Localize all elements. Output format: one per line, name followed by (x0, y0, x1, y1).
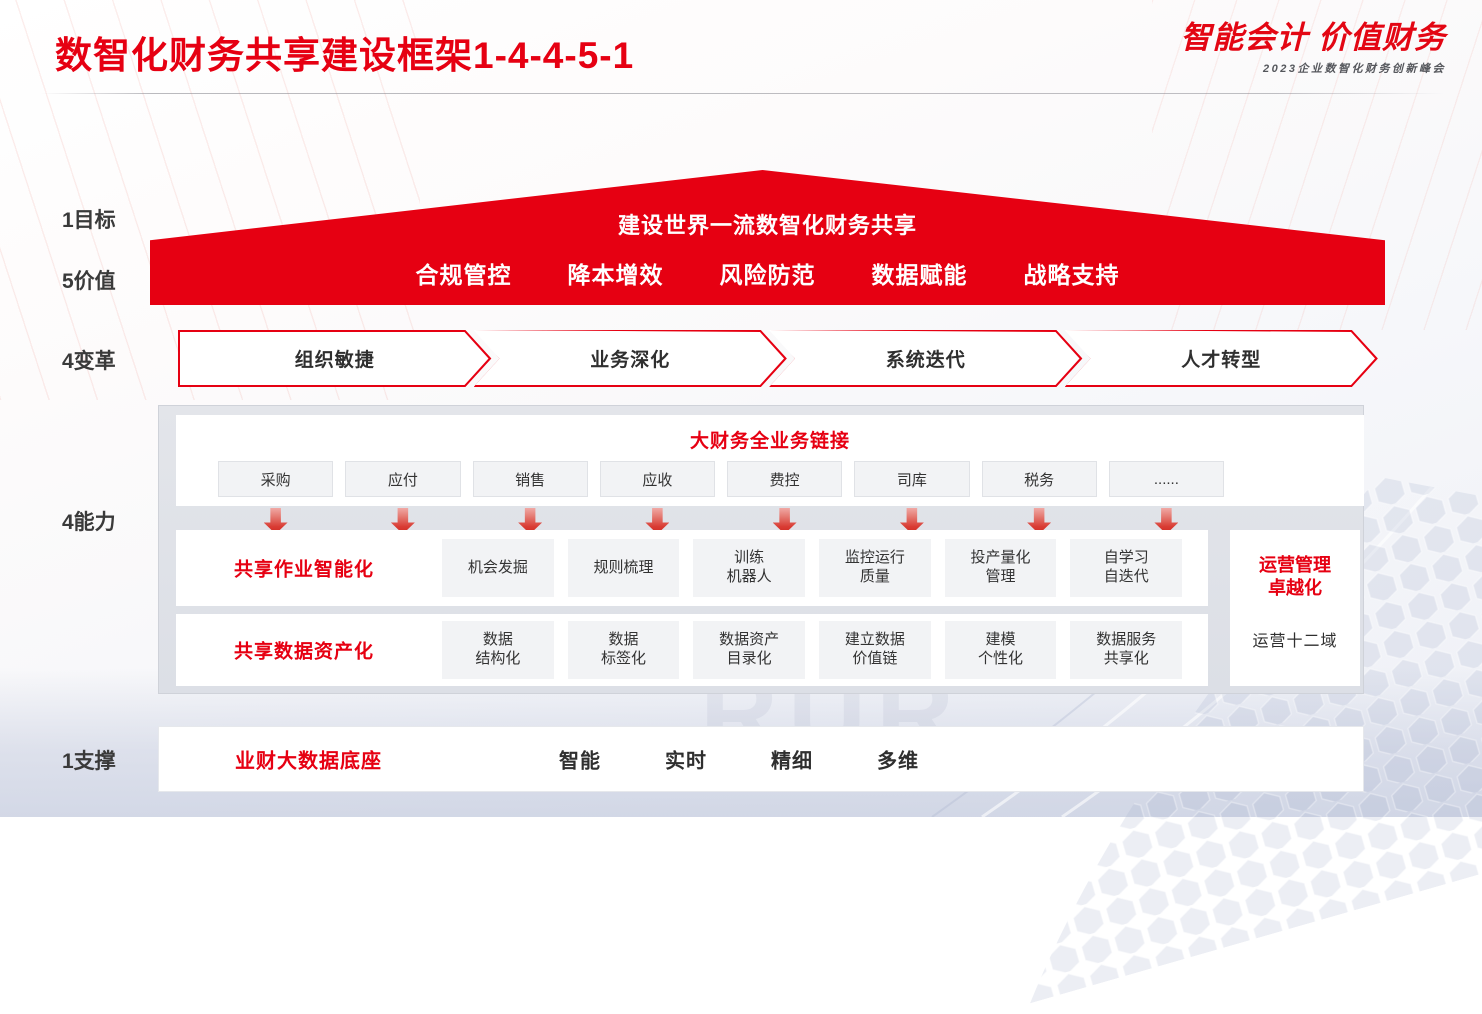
roof-goal-text: 建设世界一流数智化财务共享 (150, 208, 1385, 240)
operations-excellence-panel: 运营管理 卓越化 运营十二域 (1230, 530, 1360, 686)
operations-title-line1: 运营管理 (1259, 555, 1331, 575)
capability-card-line: 管理 (986, 568, 1016, 587)
value-item: 数据赋能 (872, 256, 968, 290)
capability-row-title: 共享数据资产化 (176, 637, 432, 664)
row-label-capability: 4能力 (62, 506, 116, 536)
capability-card[interactable]: 监控运行 质量 (819, 539, 931, 597)
header-divider (40, 93, 1444, 94)
support-foundation-title: 业财大数据底座 (235, 745, 382, 774)
capability-card[interactable]: 数据 结构化 (442, 621, 554, 679)
capability-card[interactable]: 建模 个性化 (945, 621, 1057, 679)
capability-card-line: 数据 (609, 631, 639, 650)
capability-card-line: 质量 (860, 568, 890, 587)
support-attribute: 智能 (559, 745, 601, 774)
capability-card[interactable]: 数据资产 目录化 (693, 621, 805, 679)
capability-card-line: 机会发掘 (468, 559, 528, 578)
value-list: 合规管控 降本增效 风险防范 数据赋能 战略支持 (150, 256, 1385, 290)
business-chain-tag[interactable]: 税务 (982, 461, 1097, 497)
business-chain-tag[interactable]: ...... (1109, 461, 1224, 497)
support-foundation-bar: 业财大数据底座 智能 实时 精细 多维 (158, 726, 1364, 792)
capability-card-line: 数据服务 (1096, 631, 1156, 650)
roof-banner: 建设世界一流数智化财务共享 合规管控 降本增效 风险防范 数据赋能 战略支持 (150, 170, 1385, 305)
brand-lockup: 智能会计 价值财务 2023企业数智化财务创新峰会 (1180, 22, 1446, 76)
capability-card-line: 数据 (483, 631, 513, 650)
capability-card-line: 目录化 (727, 650, 772, 669)
chevron-step-label: 业务深化 (590, 345, 670, 372)
capability-card-line: 监控运行 (845, 549, 905, 568)
business-chain-tag[interactable]: 费控 (727, 461, 842, 497)
operations-title-line2: 卓越化 (1268, 578, 1322, 598)
capability-card-line: 规则梳理 (594, 559, 654, 578)
capability-card[interactable]: 训练 机器人 (693, 539, 805, 597)
capability-card[interactable]: 数据服务 共享化 (1070, 621, 1182, 679)
capability-card[interactable]: 建立数据 价值链 (819, 621, 931, 679)
capability-row-data-assets: 共享数据资产化 数据 结构化 数据 标签化 数据资产 目录化 建立数据 价值链 … (176, 614, 1208, 686)
page-title: 数智化财务共享建设框架1-4-4-5-1 (55, 25, 634, 79)
capability-card[interactable]: 自学习 自迭代 (1070, 539, 1182, 597)
capability-card-line: 建模 (986, 631, 1016, 650)
capability-card[interactable]: 投产量化 管理 (945, 539, 1057, 597)
support-attribute: 精细 (771, 745, 813, 774)
capability-card-line: 价值链 (852, 650, 897, 669)
capability-card[interactable]: 规则梳理 (568, 539, 680, 597)
value-item: 降本增效 (568, 256, 664, 290)
capability-card-line: 数据资产 (719, 631, 779, 650)
business-chain-panel: 大财务全业务链接 采购 应付 销售 应收 费控 司库 税务 ...... (176, 415, 1364, 506)
operations-excellence-subtitle: 运营十二域 (1252, 627, 1337, 651)
capability-card-line: 标签化 (601, 650, 646, 669)
row-label-value: 5价值 (62, 265, 116, 295)
chevron-step[interactable]: 人才转型 (1065, 330, 1379, 387)
chevron-step[interactable]: 系统迭代 (769, 330, 1083, 387)
business-chain-tag[interactable]: 采购 (218, 461, 333, 497)
capability-card-line: 共享化 (1104, 650, 1149, 669)
chevron-step[interactable]: 组织敏捷 (178, 330, 492, 387)
capability-card-line: 自学习 (1104, 549, 1149, 568)
support-attribute: 实时 (665, 745, 707, 774)
capability-card-line: 建立数据 (845, 631, 905, 650)
business-chain-tag[interactable]: 应收 (600, 461, 715, 497)
capability-card-line: 自迭代 (1104, 568, 1149, 587)
business-chain-title: 大财务全业务链接 (176, 426, 1364, 453)
value-item: 合规管控 (416, 256, 512, 290)
chevron-step-label: 人才转型 (1181, 345, 1261, 372)
operations-excellence-title: 运营管理 卓越化 (1259, 554, 1331, 599)
capability-row-title: 共享作业智能化 (176, 555, 432, 582)
chevron-step[interactable]: 业务深化 (474, 330, 788, 387)
value-item: 风险防范 (720, 256, 816, 290)
chevron-step-label: 组织敏捷 (295, 345, 375, 372)
capability-row-intelligent-operations: 共享作业智能化 机会发掘 规则梳理 训练 机器人 监控运行 质量 投产量化 管理… (176, 530, 1208, 606)
row-label-goal: 1目标 (62, 204, 116, 234)
capability-card-line: 训练 (734, 549, 764, 568)
transformation-chevron-row: 组织敏捷 业务深化 系统迭代 人才转型 (178, 330, 1360, 387)
business-chain-tag-list: 采购 应付 销售 应收 费控 司库 税务 ...... (218, 461, 1224, 497)
business-chain-tag[interactable]: 应付 (345, 461, 460, 497)
row-label-support: 1支撑 (62, 745, 116, 775)
page-header: 数智化财务共享建设框架1-4-4-5-1 智能会计 价值财务 2023企业数智化… (0, 0, 1482, 96)
row-label-change: 4变革 (62, 345, 116, 375)
support-attribute-list: 智能 实时 精细 多维 (559, 745, 919, 774)
capability-card-line: 投产量化 (971, 549, 1031, 568)
capability-card-line: 机器人 (727, 568, 772, 587)
capability-card-line: 结构化 (475, 650, 520, 669)
capability-card-line: 个性化 (978, 650, 1023, 669)
brand-subtitle: 2023企业数智化财务创新峰会 (1180, 60, 1446, 76)
capability-card[interactable]: 机会发掘 (442, 539, 554, 597)
capability-card-list: 数据 结构化 数据 标签化 数据资产 目录化 建立数据 价值链 建模 个性化 数… (442, 621, 1182, 679)
brand-title: 智能会计 价值财务 (1180, 22, 1446, 55)
chevron-step-label: 系统迭代 (886, 345, 966, 372)
value-item: 战略支持 (1024, 256, 1120, 290)
business-chain-tag[interactable]: 司库 (854, 461, 969, 497)
support-attribute: 多维 (877, 745, 919, 774)
business-chain-tag[interactable]: 销售 (473, 461, 588, 497)
capability-card-list: 机会发掘 规则梳理 训练 机器人 监控运行 质量 投产量化 管理 自学习 自迭代 (442, 539, 1182, 597)
capability-card[interactable]: 数据 标签化 (568, 621, 680, 679)
